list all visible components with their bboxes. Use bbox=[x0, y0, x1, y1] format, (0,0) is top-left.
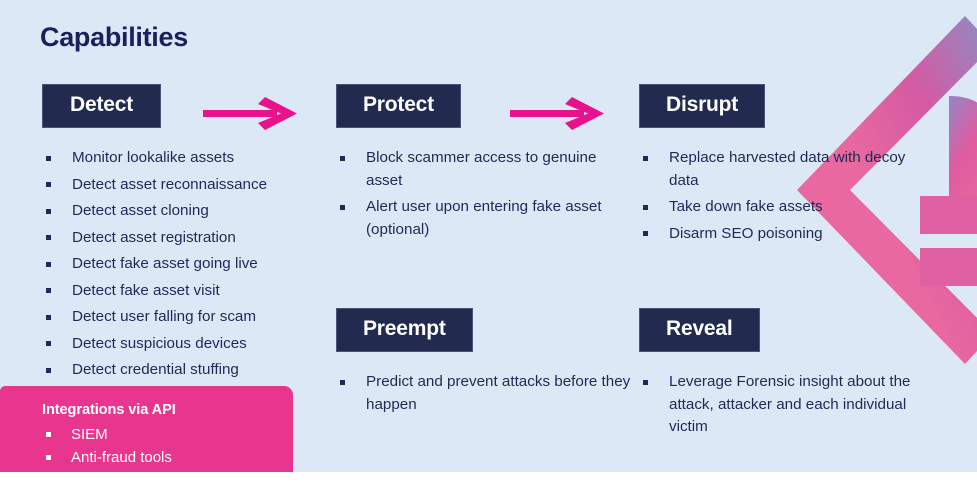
slide-canvas: Capabilities Detect Monitor lookalike as… bbox=[0, 0, 977, 490]
stage-heading-preempt[interactable]: Preempt bbox=[336, 308, 473, 352]
list-item: Detect credential stuffing bbox=[42, 359, 332, 382]
list-item: Leverage Forensic insight about the atta… bbox=[639, 371, 939, 439]
stage-heading-reveal[interactable]: Reveal bbox=[639, 308, 760, 352]
list-item: Monitor lookalike assets bbox=[42, 147, 332, 170]
list-item: SIEM bbox=[42, 424, 293, 446]
bullet-list-disrupt: Replace harvested data with decoy data T… bbox=[639, 147, 939, 245]
list-item: Block scammer access to genuine asset bbox=[336, 147, 631, 192]
stage-block-preempt: Preempt Predict and prevent attacks befo… bbox=[336, 308, 631, 420]
stage-heading-protect[interactable]: Protect bbox=[336, 84, 461, 128]
integrations-bullet-list: SIEM Anti-fraud tools bbox=[42, 424, 293, 469]
list-item: Detect suspicious devices bbox=[42, 333, 332, 356]
list-item: Detect asset reconnaissance bbox=[42, 174, 332, 197]
list-item: Detect fake asset going live bbox=[42, 253, 332, 276]
list-item: Predict and prevent attacks before they … bbox=[336, 371, 631, 416]
list-item: Detect asset cloning bbox=[42, 200, 332, 223]
arrow-detect-to-protect bbox=[203, 95, 301, 135]
list-item: Detect user falling for scam bbox=[42, 306, 332, 329]
stage-block-disrupt: Disrupt Replace harvested data with deco… bbox=[639, 84, 939, 245]
bullet-list-detect: Monitor lookalike assets Detect asset re… bbox=[42, 147, 332, 382]
column-disrupt-reveal: Disrupt Replace harvested data with deco… bbox=[639, 84, 939, 249]
list-item: Anti-fraud tools bbox=[42, 447, 293, 469]
list-item: Take down fake assets bbox=[639, 196, 939, 219]
bullet-list-reveal: Leverage Forensic insight about the atta… bbox=[639, 371, 939, 439]
list-item: Replace harvested data with decoy data bbox=[639, 147, 939, 192]
stage-block-reveal: Reveal Leverage Forensic insight about t… bbox=[639, 308, 939, 443]
stage-heading-detect[interactable]: Detect bbox=[42, 84, 161, 128]
list-item: Detect fake asset visit bbox=[42, 280, 332, 303]
arrow-protect-to-disrupt bbox=[510, 95, 608, 135]
list-item: Detect asset registration bbox=[42, 227, 332, 250]
bullet-list-protect: Block scammer access to genuine asset Al… bbox=[336, 147, 631, 241]
content-panel: Capabilities Detect Monitor lookalike as… bbox=[0, 0, 977, 472]
list-item: Disarm SEO poisoning bbox=[639, 223, 939, 246]
list-item: Alert user upon entering fake asset (opt… bbox=[336, 196, 631, 241]
stage-heading-disrupt[interactable]: Disrupt bbox=[639, 84, 765, 128]
page-title: Capabilities bbox=[40, 22, 188, 53]
bullet-list-preempt: Predict and prevent attacks before they … bbox=[336, 371, 631, 416]
integrations-card: Integrations via API SIEM Anti-fraud too… bbox=[0, 386, 293, 472]
integrations-title: Integrations via API bbox=[42, 402, 293, 418]
